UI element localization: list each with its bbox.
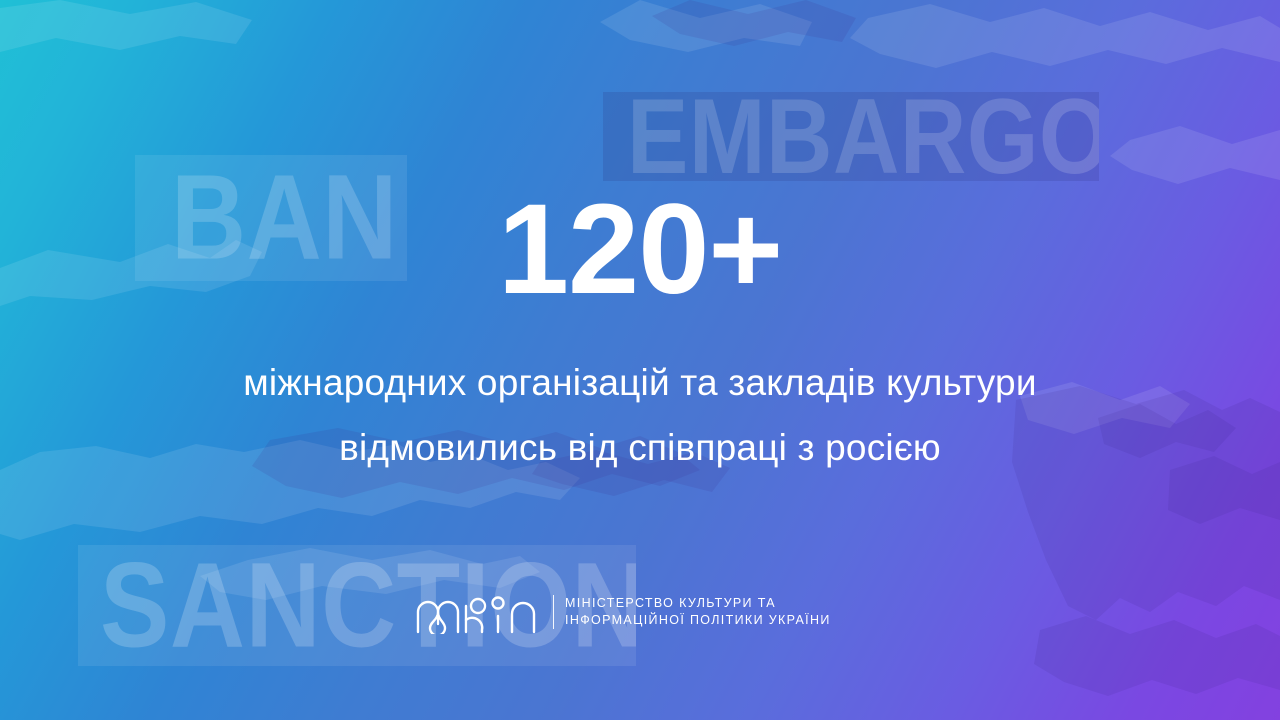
ministry-logo-line-1: МІНІСТЕРСТВО КУЛЬТУРИ ТА bbox=[565, 597, 831, 610]
ministry-logo-line-2: ІНФОРМАЦІЙНОЇ ПОЛІТИКИ УКРАЇНИ bbox=[565, 614, 831, 627]
mkip-monogram-icon bbox=[416, 590, 541, 634]
headline-number: 120+ bbox=[0, 186, 1280, 314]
ministry-logo: МІНІСТЕРСТВО КУЛЬТУРИ ТА ІНФОРМАЦІЙНОЇ П… bbox=[416, 590, 831, 634]
subtitle-line-2: відмовились від співпраці з росією bbox=[0, 429, 1280, 466]
ministry-logo-text: МІНІСТЕРСТВО КУЛЬТУРИ ТА ІНФОРМАЦІЙНОЇ П… bbox=[553, 595, 831, 629]
slide-content: 120+ міжнародних організацій та закладів… bbox=[0, 0, 1280, 720]
infographic-slide: BAN EMBARGO SANCTIONS 120+ міжнародних о… bbox=[0, 0, 1280, 720]
subtitle-line-1: міжнародних організацій та закладів куль… bbox=[0, 364, 1280, 401]
